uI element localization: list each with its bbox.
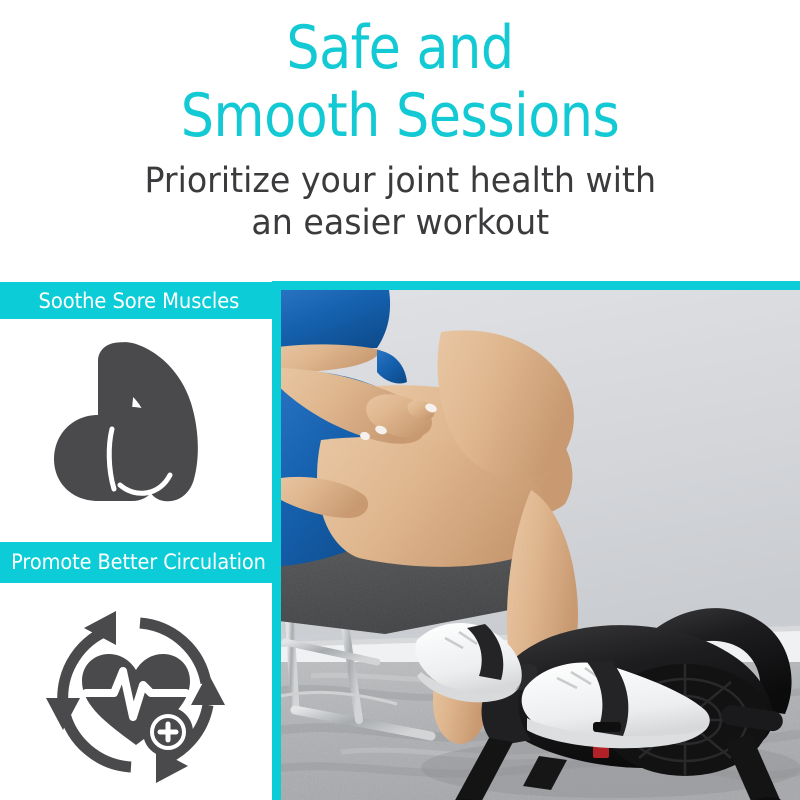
- feature-icon-cell-2: [0, 583, 272, 800]
- feature-label: Soothe Sore Muscles: [38, 289, 239, 313]
- teal-vertical-divider: [272, 281, 281, 800]
- page-title: Safe and Smooth Sessions: [181, 14, 619, 151]
- product-lifestyle-photo: [281, 290, 800, 800]
- feature-label: Promote Better Circulation: [11, 550, 266, 575]
- strap-buckle: [593, 722, 621, 732]
- headline-line-1: Safe and: [181, 14, 619, 82]
- flexed-bicep-icon: [36, 341, 236, 521]
- header-section: Safe and Smooth Sessions Prioritize your…: [0, 0, 800, 281]
- subheadline-line-1: Prioritize your joint health with: [144, 160, 656, 203]
- page-subtitle: Prioritize your joint health with an eas…: [144, 160, 656, 245]
- features-column: Soothe Sore Muscles: [0, 281, 272, 800]
- product-feature-infographic: Safe and Smooth Sessions Prioritize your…: [0, 0, 800, 800]
- heart-pulse-circulation-icon: [36, 597, 236, 787]
- athletic-top: [281, 290, 390, 350]
- machine-label: [593, 746, 609, 758]
- feature-icon-cell-1: [0, 319, 272, 542]
- feature-banner-promote-better-circulation: Promote Better Circulation: [0, 542, 277, 583]
- subheadline-line-2: an easier workout: [144, 202, 656, 245]
- feature-banner-soothe-sore-muscles: Soothe Sore Muscles: [0, 282, 277, 319]
- headline-line-2: Smooth Sessions: [181, 82, 619, 150]
